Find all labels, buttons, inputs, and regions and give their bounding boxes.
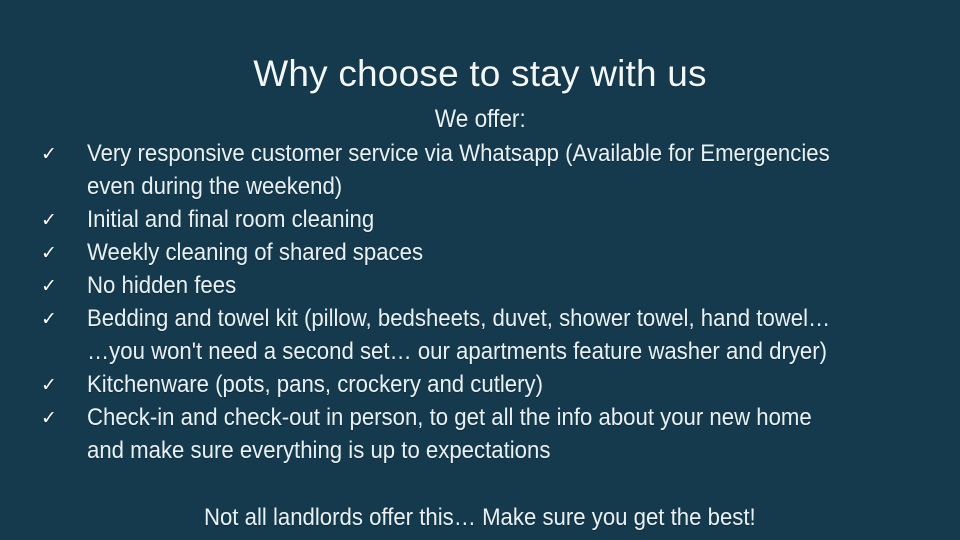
list-item: ✓ Kitchenware (pots, pans, crockery and …	[0, 368, 960, 401]
list-item-label: Check-in and check-out in person, to get…	[87, 401, 929, 467]
check-icon: ✓	[41, 138, 63, 170]
list-item-label: Very responsive customer service via Wha…	[87, 137, 929, 203]
list-item-label: Kitchenware (pots, pans, crockery and cu…	[87, 368, 929, 401]
check-icon: ✓	[41, 303, 63, 335]
check-icon: ✓	[41, 204, 63, 236]
check-icon: ✓	[41, 369, 63, 401]
list-item: ✓ Bedding and towel kit (pillow, bedshee…	[0, 302, 960, 368]
closing-statement: Not all landlords offer this… Make sure …	[0, 503, 960, 533]
check-icon: ✓	[41, 270, 63, 302]
list-item: ✓ Weekly cleaning of shared spaces	[0, 236, 960, 269]
closing-statement-text: Not all landlords offer this… Make sure …	[204, 503, 756, 533]
list-item-label: Initial and final room cleaning	[87, 203, 929, 236]
benefits-list: ✓ Very responsive customer service via W…	[0, 137, 960, 467]
list-item: ✓ Very responsive customer service via W…	[0, 137, 960, 203]
list-item: ✓ No hidden fees	[0, 269, 960, 302]
list-item: ✓ Initial and final room cleaning	[0, 203, 960, 236]
check-icon: ✓	[41, 237, 63, 269]
slide-canvas: Why choose to stay with us We offer: ✓ V…	[0, 0, 960, 540]
page-title: Why choose to stay with us	[0, 52, 960, 96]
list-item: ✓ Check-in and check-out in person, to g…	[0, 401, 960, 467]
list-item-label: No hidden fees	[87, 269, 929, 302]
list-item-label: Bedding and towel kit (pillow, bedsheets…	[87, 302, 929, 368]
subheading: We offer:	[0, 104, 960, 135]
subheading-text: We offer:	[435, 104, 526, 135]
check-icon: ✓	[41, 402, 63, 434]
list-item-label: Weekly cleaning of shared spaces	[87, 236, 929, 269]
